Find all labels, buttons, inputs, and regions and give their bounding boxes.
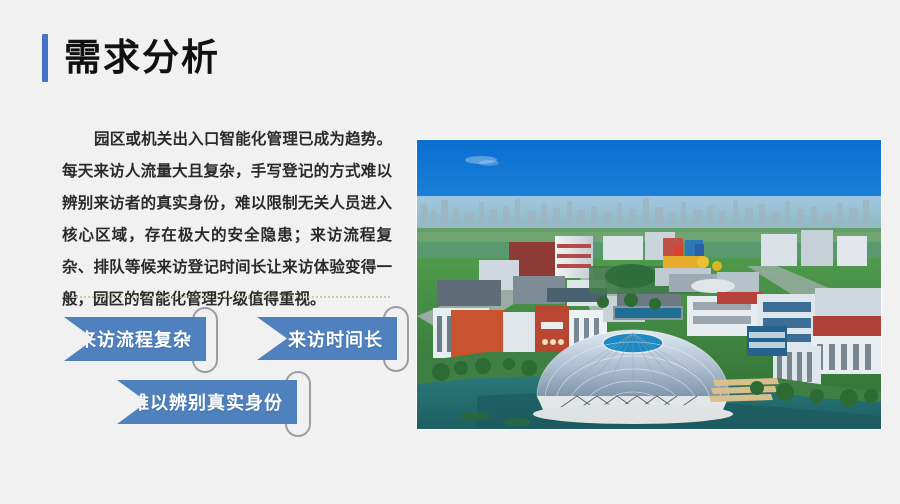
arrow-banner-label: 难以辨别真实身份: [131, 389, 297, 415]
campus-aerial-illustration: [417, 140, 881, 429]
body-paragraph: 园区或机关出入口智能化管理已成为趋势。每天来访人流量大且复杂，手写登记的方式难以…: [62, 123, 392, 315]
slide-canvas: 需求分析 园区或机关出入口智能化管理已成为趋势。每天来访人流量大且复杂，手写登记…: [0, 0, 900, 504]
arrow-banner-3[interactable]: 难以辨别真实身份: [117, 380, 297, 424]
title-accent-bar: [42, 34, 48, 82]
dotted-divider: [72, 296, 390, 298]
arrow-banner-2[interactable]: 来访时间长: [257, 317, 397, 360]
arrow-banner-label: 来访流程复杂: [78, 326, 206, 352]
campus-aerial-photo: [417, 140, 881, 429]
arrow-banner-1[interactable]: 来访流程复杂: [64, 317, 206, 361]
title-label: 需求分析: [64, 34, 220, 82]
page-title: 需求分析: [42, 33, 220, 83]
arrow-banner-label: 来访时间长: [288, 326, 397, 352]
